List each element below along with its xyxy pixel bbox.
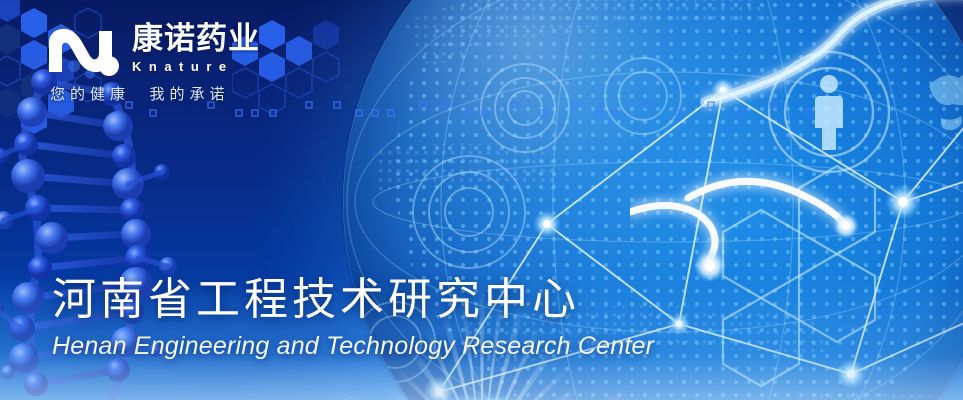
knature-n-monogram-icon — [46, 26, 120, 76]
company-logo[interactable]: 康诺药业 Knature 您的健康 我的承诺 — [46, 24, 336, 102]
logo-company-name-en: Knature — [132, 60, 260, 73]
promo-banner: GRAPH 23 35 21 — [0, 0, 963, 400]
page-title-en: Henan Engineering and Technology Researc… — [52, 333, 654, 361]
page-title-cn: 河南省工程技术研究中心 — [52, 277, 654, 324]
glowing-light-trail-main — [630, 158, 880, 288]
glowing-light-trail-top — [700, 0, 963, 120]
logo-company-name-cn: 康诺药业 — [132, 24, 260, 55]
logo-slogan: 您的健康 我的承诺 — [50, 87, 336, 102]
person-figure-icon — [815, 75, 843, 150]
headline-block: 河南省工程技术研究中心 Henan Engineering and Techno… — [52, 277, 654, 360]
burst-core-light — [422, 395, 542, 400]
